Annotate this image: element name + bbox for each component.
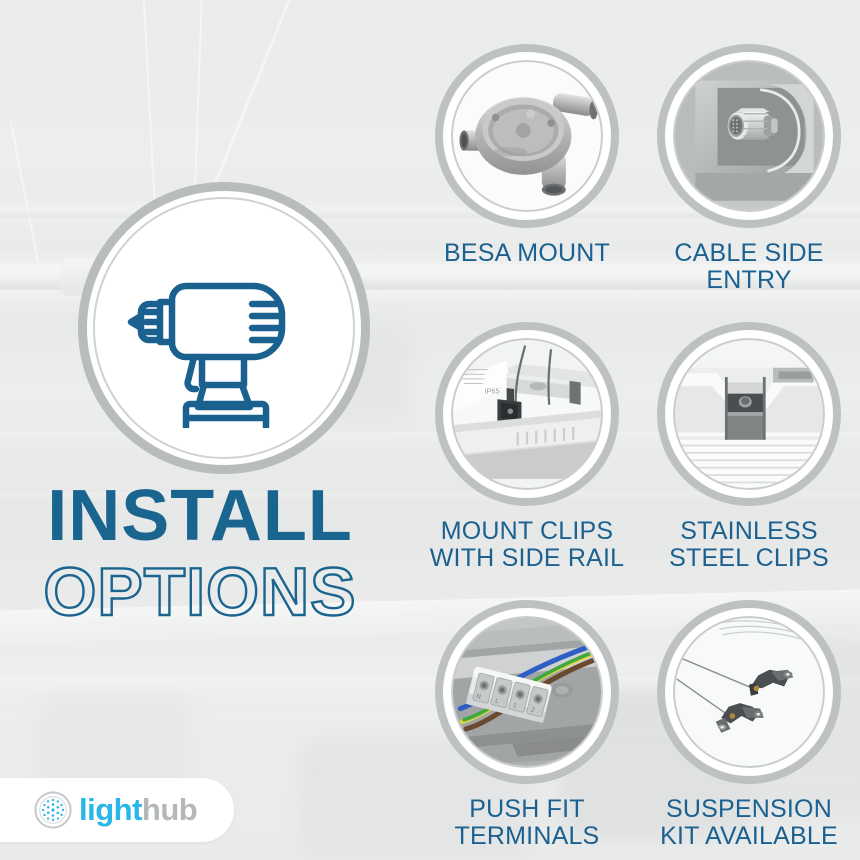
product-feature-graphic: INSTALL OPTIONS lighthub <box>0 0 860 860</box>
feature-label: STAINLESS STEEL CLIPS <box>646 518 852 571</box>
feature-item-mount-clips[interactable]: IP65 <box>424 322 630 571</box>
feature-item-suspension-kit[interactable]: SUSPENSION KIT AVAILABLE <box>646 600 852 849</box>
brand-logo[interactable]: lighthub <box>0 778 234 842</box>
headline-install: INSTALL <box>0 480 400 552</box>
feature-ring <box>657 44 841 228</box>
feature-label: BESA MOUNT <box>424 240 630 267</box>
feature-item-stainless-clips[interactable]: STAINLESS STEEL CLIPS <box>646 322 852 571</box>
svg-text:IP65: IP65 <box>484 387 499 396</box>
besa-junction-box-photo <box>453 62 601 210</box>
feature-ring <box>657 600 841 784</box>
feature-label: MOUNT CLIPS WITH SIDE RAIL <box>424 518 630 571</box>
feature-label: CABLE SIDE ENTRY <box>646 240 852 293</box>
feature-grid: BESA MOUNT <box>418 0 860 860</box>
dotted-circle-icon <box>34 791 72 829</box>
feature-item-cable-side-entry[interactable]: CABLE SIDE ENTRY <box>646 44 852 293</box>
logo-word-light: light <box>79 792 142 827</box>
feature-label: SUSPENSION KIT AVAILABLE <box>646 796 852 849</box>
cable-gland-photo <box>675 62 823 210</box>
drill-badge <box>78 182 370 474</box>
feature-item-push-fit-terminals[interactable]: N L 1 2 PUSH FIT TERMINALS <box>424 600 630 849</box>
push-fit-terminal-photo: N L 1 2 <box>453 618 601 766</box>
headline-block: INSTALL OPTIONS <box>0 480 400 626</box>
feature-item-besa-mount[interactable]: BESA MOUNT <box>424 44 630 267</box>
logo-word-hub: hub <box>142 792 197 827</box>
stainless-clip-photo <box>675 340 823 488</box>
feature-label: PUSH FIT TERMINALS <box>424 796 630 849</box>
headline-options: OPTIONS <box>0 558 400 626</box>
logo-wordmark: lighthub <box>79 792 197 828</box>
mount-clip-rail-photo: IP65 <box>453 340 601 488</box>
feature-ring: N L 1 2 <box>435 600 619 784</box>
suspension-kit-photo <box>675 618 823 766</box>
power-drill-icon <box>124 228 324 428</box>
feature-ring <box>435 44 619 228</box>
feature-ring: IP65 <box>435 322 619 506</box>
feature-ring <box>657 322 841 506</box>
